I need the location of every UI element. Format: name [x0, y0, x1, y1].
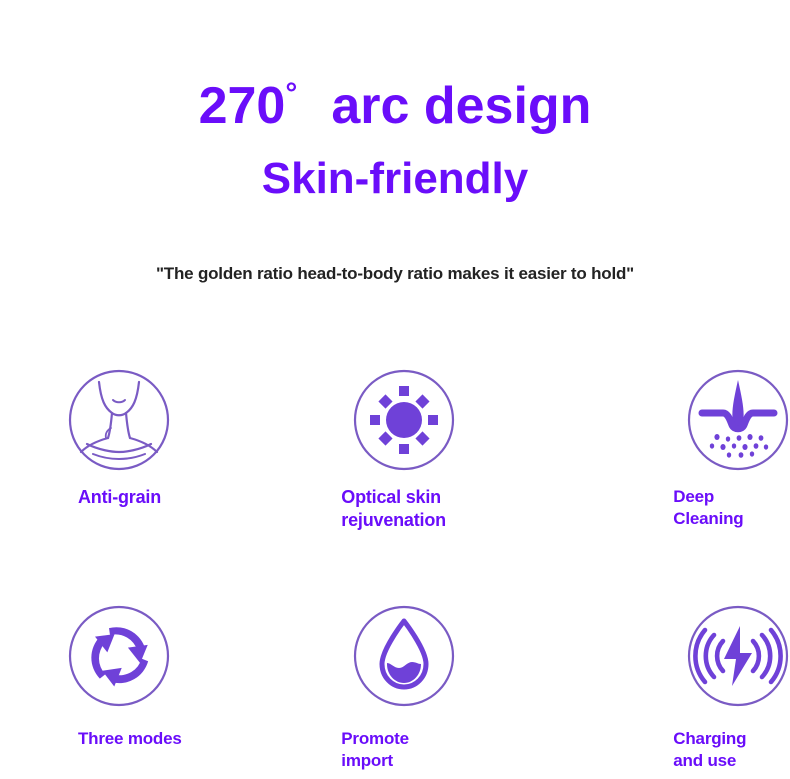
degree-symbol: ° — [285, 77, 297, 110]
feature-label: Deep Cleaning — [673, 486, 743, 530]
headline-secondary: Skin-friendly — [0, 155, 790, 203]
headline-primary: 270°arc design — [0, 78, 790, 135]
feature-row-top: Anti-grain — [0, 368, 790, 532]
wireless-charging-icon — [679, 604, 790, 708]
subtitle-quote: "The golden ratio head-to-body ratio mak… — [0, 264, 790, 284]
feature-row-bottom: Three modes Promote import — [0, 604, 790, 772]
pore-follicle-icon — [679, 368, 790, 472]
headline-block: 270°arc design Skin-friendly — [0, 78, 790, 204]
headline-number: 270 — [199, 77, 286, 135]
feature-label: Charging and use — [673, 728, 746, 772]
headline-rest: arc design — [331, 77, 591, 135]
product-feature-page: 270°arc design Skin-friendly "The golden… — [0, 0, 790, 779]
feature-item-charging-and-use: Charging and use — [85, 604, 673, 772]
feature-grid: Anti-grain — [0, 368, 790, 772]
feature-item-deep-cleaning: Deep Cleaning — [85, 368, 673, 532]
